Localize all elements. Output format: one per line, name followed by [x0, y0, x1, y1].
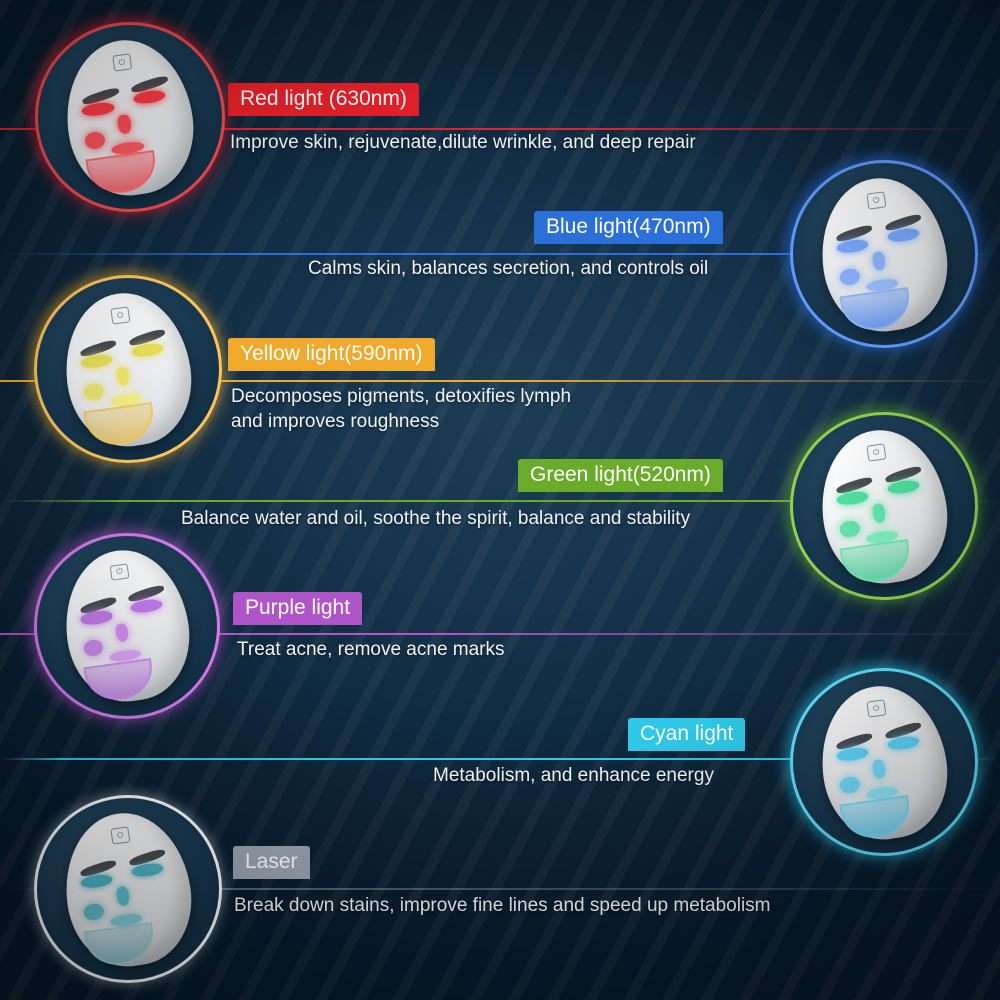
mask-image-purple: ⏻: [34, 533, 214, 713]
mask-logo-icon: ⏻: [866, 699, 886, 717]
label-yellow: Yellow light(590nm): [228, 338, 435, 371]
description-green: Balance water and oil, soothe the spirit…: [181, 506, 690, 531]
mask-image-red: ⏻: [35, 22, 219, 206]
mask-logo-icon: ⏻: [866, 443, 886, 461]
label-blue: Blue light(470nm): [534, 211, 723, 244]
mask-logo-icon: ⏻: [110, 826, 130, 844]
mask-logo-icon: ⏻: [109, 563, 129, 581]
mask-image-green: ⏻: [790, 412, 972, 594]
description-blue: Calms skin, balances secretion, and cont…: [308, 256, 708, 281]
mask-logo-icon: ⏻: [110, 306, 130, 324]
label-purple: Purple light: [233, 592, 362, 625]
label-red: Red light (630nm): [228, 83, 419, 116]
label-cyan: Cyan light: [628, 718, 745, 751]
description-cyan: Metabolism, and enhance energy: [433, 763, 714, 788]
infographic-page: ⏻ Red light (630nm) Improve skin, rejuve…: [0, 0, 1000, 1000]
label-laser: Laser: [233, 846, 310, 879]
description-laser: Break down stains, improve fine lines an…: [234, 893, 771, 918]
description-red: Improve skin, rejuvenate,dilute wrinkle,…: [230, 130, 696, 155]
mask-image-cyan: ⏻: [790, 668, 972, 850]
description-yellow: Decomposes pigments, detoxifies lymph an…: [231, 384, 571, 434]
mask-logo-icon: ⏻: [112, 53, 132, 71]
description-purple: Treat acne, remove acne marks: [237, 637, 505, 662]
label-green: Green light(520nm): [518, 459, 723, 492]
mask-image-yellow: ⏻: [34, 275, 216, 457]
mask-logo-icon: ⏻: [866, 191, 886, 209]
mask-image-laser: ⏻: [34, 795, 216, 977]
mask-image-blue: ⏻: [790, 160, 972, 342]
